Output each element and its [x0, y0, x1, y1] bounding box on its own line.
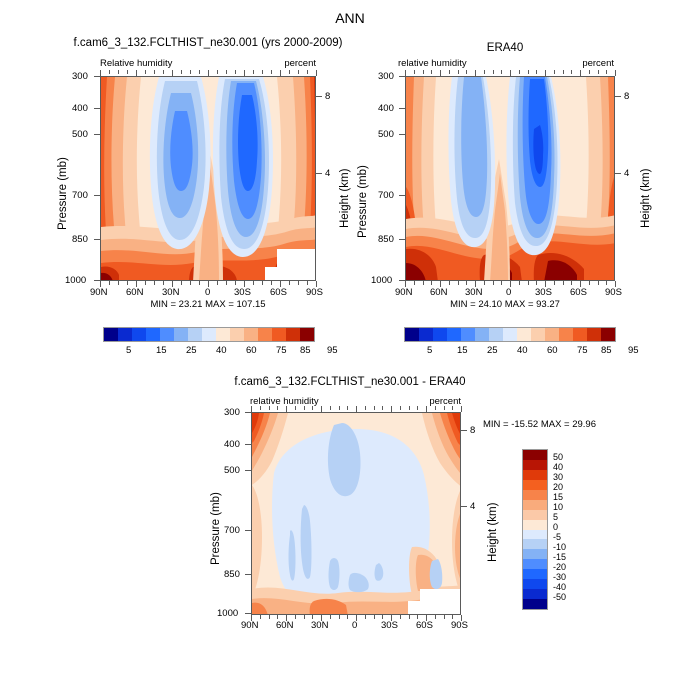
axis-minor-tick	[163, 70, 164, 74]
axis-minor-tick	[475, 70, 476, 76]
axis-minor-tick	[431, 70, 432, 74]
axis-minor-tick	[253, 70, 254, 74]
axis-minor-tick	[493, 281, 494, 285]
axis-minor-tick	[244, 70, 245, 76]
panel-era-xtick-60N: 60N	[430, 287, 447, 298]
axis-minor-tick	[235, 281, 236, 285]
axis-minor-tick	[417, 406, 418, 410]
colorbar-cell-4	[461, 328, 475, 341]
colorbar-cell-9	[230, 328, 244, 341]
axis-minor-tick	[391, 615, 392, 621]
axis-minor-tick	[145, 281, 146, 285]
axis-minor-tick	[298, 70, 299, 74]
colorbar-diff-label: 20	[553, 482, 563, 492]
panel-cam-left-header: Relative humidity	[100, 58, 172, 69]
panel-diff-plot[interactable]	[251, 412, 461, 615]
axis-minor-tick	[528, 281, 529, 285]
axis-minor-tick	[510, 70, 511, 76]
colorbar-diff-cell-2	[523, 470, 547, 480]
axis-minor-tick	[260, 615, 261, 619]
panel-diff-xtick-60N: 60N	[276, 620, 293, 631]
axis-minor-tick	[519, 281, 520, 285]
panel-diff-ytick-300: 300	[224, 407, 240, 418]
colorbar-cell-13	[286, 328, 300, 341]
axis-minor-tick	[347, 615, 348, 619]
colorbar-cell-2	[132, 328, 146, 341]
colorbar-diff-cell-5	[523, 500, 547, 510]
axis-minor-tick	[461, 406, 462, 412]
axis-minor-tick	[190, 281, 191, 285]
panel-era-ytick-300: 300	[378, 71, 394, 82]
axis-minor-tick	[307, 70, 308, 74]
panel-cam-height-tick	[316, 173, 322, 174]
axis-minor-tick	[374, 615, 375, 619]
panel-cam-right-header: percent	[284, 58, 316, 69]
colorbar-cell-10	[244, 328, 258, 341]
axis-minor-tick	[316, 70, 317, 76]
axis-minor-tick	[431, 281, 432, 285]
axis-minor-tick	[409, 615, 410, 619]
panel-cam-xtick-0: 0	[205, 287, 210, 298]
colorbar-diff-label: -20	[553, 562, 566, 572]
axis-minor-tick	[295, 615, 296, 619]
axis-minor-tick	[260, 406, 261, 410]
axis-minor-tick	[466, 281, 467, 285]
axis-minor-tick	[127, 70, 128, 74]
axis-minor-tick	[440, 70, 441, 76]
axis-minor-tick	[435, 406, 436, 410]
panel-cam-xtick-30S: 30S	[234, 287, 251, 298]
colorbar-rh-cam-label: 25	[186, 345, 197, 356]
axis-minor-tick	[321, 406, 322, 412]
colorbar-rh-cam-label: 5	[126, 345, 131, 356]
axis-minor-tick	[405, 281, 406, 287]
colorbar-diff-cell-10	[523, 549, 547, 559]
axis-minor-tick	[580, 70, 581, 76]
colorbar-rh-era-label: 25	[487, 345, 498, 356]
axis-minor-tick	[271, 281, 272, 285]
axis-minor-tick	[356, 406, 357, 412]
panel-era-ytick-400: 400	[378, 103, 394, 114]
colorbar-diff-label: -10	[553, 542, 566, 552]
axis-minor-tick	[277, 406, 278, 410]
axis-minor-tick	[190, 70, 191, 74]
axis-minor-tick	[109, 70, 110, 74]
panel-cam-ytick-mark	[94, 239, 100, 240]
axis-minor-tick	[217, 281, 218, 285]
axis-minor-tick	[606, 70, 607, 74]
axis-minor-tick	[452, 406, 453, 410]
panel-cam-xtick-90S: 90S	[306, 287, 323, 298]
axis-minor-tick	[208, 70, 209, 76]
axis-minor-tick	[589, 281, 590, 285]
panel-era-xtick-60S: 60S	[570, 287, 587, 298]
colorbar-diff-cell-6	[523, 510, 547, 520]
panel-era-height-label-8: 8	[624, 91, 629, 102]
axis-minor-tick	[312, 406, 313, 410]
axis-minor-tick	[163, 281, 164, 285]
panel-cam-height-label-4: 4	[325, 168, 330, 179]
axis-minor-tick	[286, 615, 287, 621]
colorbar-cell-1	[118, 328, 132, 341]
colorbar-diff-label: 30	[553, 472, 563, 482]
colorbar-cell-6	[489, 328, 503, 341]
panel-cam-ytick-400: 400	[72, 103, 88, 114]
axis-minor-tick	[365, 615, 366, 619]
panel-era-ytick-mark	[399, 195, 405, 196]
axis-minor-tick	[452, 615, 453, 619]
panel-diff-ytick-mark	[245, 444, 251, 445]
colorbar-diff-label: 10	[553, 502, 563, 512]
colorbar-diff-cell-13	[523, 579, 547, 589]
axis-minor-tick	[475, 281, 476, 287]
colorbar-rh-era-label: 40	[517, 345, 528, 356]
panel-cam-xtick-90N: 90N	[90, 287, 107, 298]
axis-minor-tick	[444, 615, 445, 619]
axis-minor-tick	[615, 281, 616, 287]
axis-minor-tick	[606, 281, 607, 285]
axis-minor-tick	[145, 70, 146, 74]
colorbar-cell-11	[258, 328, 272, 341]
panel-cam-ylabel: Pressure (mb)	[57, 157, 69, 230]
axis-minor-tick	[405, 70, 406, 76]
panel-cam-xtick-60N: 60N	[126, 287, 143, 298]
axis-minor-tick	[444, 406, 445, 410]
panel-era-height-label-4: 4	[624, 168, 629, 179]
colorbar-rh-cam-label: 85	[300, 345, 311, 356]
axis-minor-tick	[435, 615, 436, 619]
colorbar-diff-cell-12	[523, 569, 547, 579]
panel-diff-xtick-90N: 90N	[241, 620, 258, 631]
panel-era-ytick-mark	[399, 134, 405, 135]
axis-minor-tick	[304, 615, 305, 619]
panel-diff-xtick-30S: 30S	[381, 620, 398, 631]
colorbar-cell-0	[405, 328, 419, 341]
panel-era-ytick-mark	[399, 239, 405, 240]
axis-minor-tick	[545, 281, 546, 287]
colorbar-cell-5	[475, 328, 489, 341]
colorbar-cell-0	[104, 328, 118, 341]
axis-minor-tick	[519, 70, 520, 74]
panel-cam-title: f.cam6_3_132.FCLTHIST_ne30.001 (yrs 2000…	[0, 37, 416, 49]
axis-minor-tick	[100, 281, 101, 287]
axis-minor-tick	[253, 281, 254, 285]
panel-diff-xtick-30N: 30N	[311, 620, 328, 631]
colorbar-diff-cell-7	[523, 520, 547, 530]
panel-cam-height-label-8: 8	[325, 91, 330, 102]
panel-cam-height-tick	[316, 96, 322, 97]
panel-diff-title: f.cam6_3_132.FCLTHIST_ne30.001 - ERA40	[180, 376, 520, 388]
axis-minor-tick	[339, 615, 340, 619]
colorbar-cell-12	[272, 328, 286, 341]
axis-minor-tick	[484, 281, 485, 285]
colorbar-diff-cell-8	[523, 530, 547, 540]
axis-minor-tick	[154, 70, 155, 74]
colorbar-diff-label: 15	[553, 492, 563, 502]
panel-diff-xtick-60S: 60S	[416, 620, 433, 631]
axis-minor-tick	[321, 615, 322, 621]
panel-era-contour-field	[406, 77, 615, 281]
colorbar-rh-era-label: 85	[601, 345, 612, 356]
colorbar-diff-cell-15	[523, 599, 547, 609]
colorbar-cell-10	[545, 328, 559, 341]
colorbar-cell-7	[503, 328, 517, 341]
axis-minor-tick	[295, 406, 296, 410]
axis-minor-tick	[409, 406, 410, 410]
axis-minor-tick	[449, 281, 450, 285]
panel-diff-height-label-8: 8	[470, 425, 475, 436]
colorbar-diff-cell-11	[523, 559, 547, 569]
axis-minor-tick	[458, 70, 459, 74]
axis-minor-tick	[312, 615, 313, 619]
axis-minor-tick	[226, 281, 227, 285]
axis-minor-tick	[251, 615, 252, 621]
panel-cam-ytick-500: 500	[72, 129, 88, 140]
panel-era-plot[interactable]	[405, 76, 615, 281]
colorbar-cell-5	[174, 328, 188, 341]
colorbar-cell-13	[587, 328, 601, 341]
colorbar-diff-label: 5	[553, 512, 558, 522]
axis-minor-tick	[172, 281, 173, 287]
colorbar-cell-12	[573, 328, 587, 341]
axis-minor-tick	[251, 406, 252, 412]
axis-minor-tick	[426, 406, 427, 412]
panel-cam-xtick-30N: 30N	[162, 287, 179, 298]
axis-minor-tick	[307, 281, 308, 285]
axis-minor-tick	[382, 615, 383, 619]
axis-minor-tick	[109, 281, 110, 285]
panel-cam-ytick-mark	[94, 195, 100, 196]
colorbar-rh-cam-label: 60	[246, 345, 257, 356]
axis-minor-tick	[449, 70, 450, 74]
axis-minor-tick	[280, 281, 281, 287]
panel-diff-ytick-1000: 1000	[217, 608, 238, 619]
axis-minor-tick	[118, 70, 119, 74]
colorbar-diff-label: -5	[553, 532, 561, 542]
panel-diff-ylabel: Pressure (mb)	[210, 492, 222, 565]
panel-era-xtick-0: 0	[506, 287, 511, 298]
panel-era-ylabel-secondary: Pressure (mb)	[357, 165, 369, 238]
colorbar-rh-era-label: 60	[547, 345, 558, 356]
panel-cam-ytick-mark	[94, 134, 100, 135]
axis-minor-tick	[330, 615, 331, 619]
colorbar-diff-cell-1	[523, 460, 547, 470]
panel-diff-height-axis-label: Height (km)	[487, 503, 499, 562]
axis-minor-tick	[440, 281, 441, 287]
panel-era-height-tick	[615, 96, 621, 97]
panel-era-title: ERA40	[390, 42, 620, 54]
axis-minor-tick	[277, 615, 278, 619]
axis-minor-tick	[400, 406, 401, 410]
axis-minor-tick	[545, 70, 546, 76]
colorbar-cell-8	[216, 328, 230, 341]
axis-minor-tick	[347, 406, 348, 410]
axis-minor-tick	[244, 281, 245, 287]
colorbar-diff-label: 50	[553, 452, 563, 462]
axis-minor-tick	[458, 281, 459, 285]
colorbar-diff-label: -15	[553, 552, 566, 562]
page-title: ANN	[0, 10, 700, 26]
axis-minor-tick	[374, 406, 375, 410]
panel-diff-ytick-mark	[245, 412, 251, 413]
colorbar-diff-cell-3	[523, 480, 547, 490]
axis-minor-tick	[400, 615, 401, 619]
axis-minor-tick	[304, 406, 305, 410]
axis-minor-tick	[286, 406, 287, 412]
panel-cam-ytick-mark	[94, 76, 100, 77]
panel-era-xtick-90N: 90N	[395, 287, 412, 298]
axis-minor-tick	[461, 615, 462, 621]
colorbar-rh-cam-label: 75	[276, 345, 287, 356]
colorbar-rh-era-label: 5	[427, 345, 432, 356]
axis-minor-tick	[154, 281, 155, 285]
axis-minor-tick	[271, 70, 272, 74]
panel-era-ytick-mark	[399, 76, 405, 77]
panel-era-right-header: percent	[582, 58, 614, 69]
colorbar-diff-label: -40	[553, 582, 566, 592]
panel-era-stats: MIN = 24.10 MAX = 93.27	[390, 299, 620, 310]
axis-minor-tick	[235, 70, 236, 74]
panel-era-ytick-500: 500	[378, 129, 394, 140]
colorbar-diff-cell-4	[523, 490, 547, 500]
axis-minor-tick	[199, 70, 200, 74]
panel-cam-xtick-60S: 60S	[270, 287, 287, 298]
axis-minor-tick	[536, 281, 537, 285]
panel-cam-height-axis-label: Height (km)	[339, 169, 351, 228]
colorbar-rh-era[interactable]	[404, 327, 616, 342]
panel-era-height-tick	[615, 173, 621, 174]
axis-minor-tick	[199, 281, 200, 285]
colorbar-cell-11	[559, 328, 573, 341]
axis-minor-tick	[280, 70, 281, 76]
colorbar-cell-7	[202, 328, 216, 341]
axis-minor-tick	[510, 281, 511, 287]
colorbar-rh-cam-label: 40	[216, 345, 227, 356]
axis-minor-tick	[356, 615, 357, 621]
axis-minor-tick	[316, 281, 317, 287]
panel-cam-stats: MIN = 23.21 MAX = 107.15	[0, 299, 416, 310]
panel-cam-ytick-700: 700	[72, 190, 88, 201]
panel-cam-ytick-mark	[94, 108, 100, 109]
colorbar-diff-label: -50	[553, 592, 566, 602]
colorbar-rh-era-label: 95	[628, 345, 639, 356]
panel-diff-height-label-4: 4	[470, 501, 475, 512]
axis-minor-tick	[330, 406, 331, 410]
axis-minor-tick	[528, 70, 529, 74]
axis-minor-tick	[262, 281, 263, 285]
colorbar-diff-cell-9	[523, 539, 547, 549]
axis-minor-tick	[269, 406, 270, 410]
panel-cam-plot[interactable]	[100, 76, 316, 281]
colorbar-diff-label: -30	[553, 572, 566, 582]
axis-minor-tick	[554, 281, 555, 285]
axis-minor-tick	[414, 281, 415, 285]
panel-era-ytick-1000: 1000	[371, 275, 392, 286]
axis-minor-tick	[181, 281, 182, 285]
axis-minor-tick	[136, 70, 137, 76]
axis-minor-tick	[127, 281, 128, 285]
colorbar-diff[interactable]	[522, 449, 548, 610]
axis-minor-tick	[598, 70, 599, 74]
axis-minor-tick	[571, 70, 572, 74]
colorbar-diff-label: 40	[553, 462, 563, 472]
axis-minor-tick	[493, 70, 494, 74]
axis-minor-tick	[208, 281, 209, 287]
axis-minor-tick	[414, 70, 415, 74]
axis-minor-tick	[563, 70, 564, 74]
axis-minor-tick	[466, 70, 467, 74]
axis-minor-tick	[615, 70, 616, 76]
panel-diff-ytick-mark	[245, 530, 251, 531]
axis-minor-tick	[298, 281, 299, 285]
axis-minor-tick	[598, 281, 599, 285]
axis-minor-tick	[501, 281, 502, 285]
colorbar-rh-cam[interactable]	[103, 327, 315, 342]
colorbar-diff-label: 0	[553, 522, 558, 532]
panel-cam-ytick-300: 300	[72, 71, 88, 82]
axis-minor-tick	[339, 406, 340, 410]
colorbar-rh-cam-label: 15	[156, 345, 167, 356]
axis-minor-tick	[484, 70, 485, 74]
axis-minor-tick	[426, 615, 427, 621]
colorbar-cell-4	[160, 328, 174, 341]
panel-era-xtick-30S: 30S	[535, 287, 552, 298]
axis-minor-tick	[382, 406, 383, 410]
colorbar-rh-cam-label: 95	[327, 345, 338, 356]
panel-diff-contour-field	[252, 413, 461, 615]
colorbar-rh-era-label: 15	[457, 345, 468, 356]
colorbar-cell-3	[447, 328, 461, 341]
panel-diff-xtick-0: 0	[352, 620, 357, 631]
axis-minor-tick	[554, 70, 555, 74]
colorbar-cell-8	[517, 328, 531, 341]
axis-minor-tick	[423, 281, 424, 285]
colorbar-cell-2	[433, 328, 447, 341]
panel-era-xtick-90S: 90S	[605, 287, 622, 298]
axis-minor-tick	[289, 281, 290, 285]
colorbar-cell-6	[188, 328, 202, 341]
axis-minor-tick	[289, 70, 290, 74]
axis-minor-tick	[501, 70, 502, 74]
panel-diff-ytick-850: 850	[224, 569, 240, 580]
panel-diff-stats: MIN = -15.52 MAX = 29.96	[483, 419, 596, 430]
panel-cam-ytick-1000: 1000	[65, 275, 86, 286]
axis-minor-tick	[563, 281, 564, 285]
panel-era-height-axis-label: Height (km)	[640, 169, 652, 228]
axis-minor-tick	[217, 70, 218, 74]
colorbar-rh-era-label: 75	[577, 345, 588, 356]
panel-diff-ytick-400: 400	[224, 439, 240, 450]
colorbar-cell-3	[146, 328, 160, 341]
panel-era-ytick-850: 850	[378, 234, 394, 245]
axis-minor-tick	[100, 70, 101, 76]
axis-minor-tick	[365, 406, 366, 410]
colorbar-cell-1	[419, 328, 433, 341]
axis-minor-tick	[181, 70, 182, 74]
axis-minor-tick	[417, 615, 418, 619]
panel-diff-ytick-700: 700	[224, 525, 240, 536]
axis-minor-tick	[391, 406, 392, 412]
panel-cam-contour-field	[101, 77, 316, 281]
axis-minor-tick	[580, 281, 581, 287]
axis-minor-tick	[136, 281, 137, 287]
axis-minor-tick	[262, 70, 263, 74]
panel-diff-height-tick	[461, 506, 467, 507]
axis-minor-tick	[423, 70, 424, 74]
axis-minor-tick	[269, 615, 270, 619]
panel-era-left-header: relative humidity	[398, 58, 467, 69]
panel-diff-xtick-90S: 90S	[451, 620, 468, 631]
